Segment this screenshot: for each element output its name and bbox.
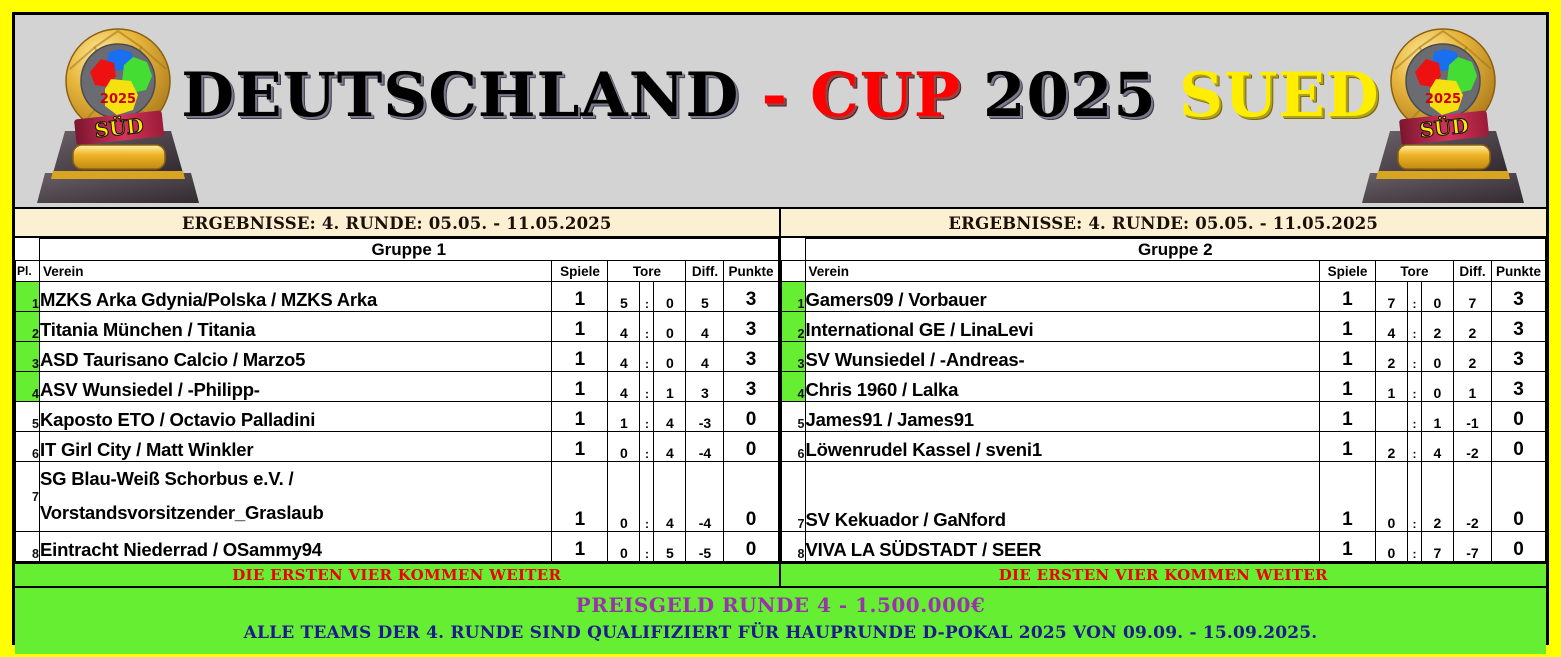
table-row[interactable]: 2 Titania München / Titania 1 4 : 0 4 3 (16, 312, 779, 342)
goals-separator: : (640, 372, 654, 402)
col-header-diff-2: Diff. (1453, 261, 1491, 282)
team-cell: Gamers09 / Vorbauer (805, 282, 1319, 312)
goal-diff-cell: 2 (1453, 312, 1491, 342)
col-header-spiele-2: Spiele (1319, 261, 1375, 282)
goals-for-cell: 2 (1375, 342, 1407, 372)
rank-cell: 2 (781, 312, 805, 342)
games-cell: 1 (1319, 282, 1375, 312)
team-cell: Titania München / Titania (40, 312, 552, 342)
goal-diff-cell: -3 (686, 402, 724, 432)
results-header-group-1: ERGEBNISSE: 4. RUNDE: 05.05. - 11.05.202… (15, 209, 779, 238)
goal-diff-cell: -4 (686, 432, 724, 462)
goals-for-cell: 0 (1375, 532, 1407, 562)
goals-for-cell: 1 (1375, 372, 1407, 402)
group-title-spacer-2 (781, 239, 805, 261)
goals-for-cell: 0 (608, 462, 640, 532)
table-row[interactable]: 5 James91 / James91 1 : 1 -1 0 (781, 402, 1546, 432)
goal-diff-cell: -2 (1453, 432, 1491, 462)
goals-for-cell: 5 (608, 282, 640, 312)
title-part-cup: - CUP (762, 60, 983, 131)
team-cell: IT Girl City / Matt Winkler (40, 432, 552, 462)
points-cell: 3 (1491, 342, 1545, 372)
goals-against-cell: 4 (654, 402, 686, 432)
goals-against-cell: 2 (1421, 462, 1453, 532)
results-header-group-2: ERGEBNISSE: 4. RUNDE: 05.05. - 11.05.202… (781, 209, 1547, 238)
goals-separator: : (1407, 342, 1421, 372)
team-cell: SV Kekuador / GaNford (805, 462, 1319, 532)
table-row[interactable]: 7 SG Blau-Weiß Schorbus e.V. / Vorstands… (16, 462, 779, 532)
goals-against-cell: 0 (654, 342, 686, 372)
goals-for-cell: 1 (608, 402, 640, 432)
points-cell: 0 (724, 402, 778, 432)
rank-cell: 8 (781, 532, 805, 562)
title-part-sued: SUED (1179, 60, 1380, 131)
rank-cell: 5 (16, 402, 40, 432)
standings-table-group-1: Gruppe 1 Pl. Verein Spiele Tore Diff. Pu… (15, 238, 779, 562)
col-header-punkte-2: Punkte (1491, 261, 1545, 282)
games-cell: 1 (1319, 462, 1375, 532)
group-title-row-2: Gruppe 2 (781, 239, 1546, 261)
col-header-pl-2 (781, 261, 805, 282)
goal-diff-cell: -1 (1453, 402, 1491, 432)
points-cell: 0 (1491, 532, 1545, 562)
goals-for-cell: 0 (608, 532, 640, 562)
title-part-deutschland: DEUTSCHLAND (181, 60, 761, 131)
points-cell: 0 (1491, 402, 1545, 432)
table-row[interactable]: 3 ASD Taurisano Calcio / Marzo5 1 4 : 0 … (16, 342, 779, 372)
column-header-row-2: Verein Spiele Tore Diff. Punkte (781, 261, 1546, 282)
table-row[interactable]: 7 SV Kekuador / GaNford 1 0 : 2 -2 0 (781, 462, 1546, 532)
rank-cell: 8 (16, 532, 40, 562)
points-cell: 0 (724, 432, 778, 462)
team-cell: ASD Taurisano Calcio / Marzo5 (40, 342, 552, 372)
table-row[interactable]: 5 Kaposto ETO / Octavio Palladini 1 1 : … (16, 402, 779, 432)
rank-cell: 3 (781, 342, 805, 372)
col-header-pl-1: Pl. (16, 261, 40, 282)
points-cell: 0 (1491, 432, 1545, 462)
advance-note-group-1: DIE ERSTEN VIER KOMMEN WEITER (15, 564, 781, 586)
rank-cell: 6 (16, 432, 40, 462)
goals-against-cell: 4 (654, 462, 686, 532)
goals-separator: : (1407, 402, 1421, 432)
goals-for-cell: 0 (1375, 462, 1407, 532)
games-cell: 1 (552, 402, 608, 432)
col-header-tore-1: Tore (608, 261, 686, 282)
goal-diff-cell: 3 (686, 372, 724, 402)
rank-cell: 7 (781, 462, 805, 532)
qualification-text: ALLE TEAMS DER 4. RUNDE SIND QUALIFIZIER… (15, 619, 1546, 647)
goals-separator: : (1407, 282, 1421, 312)
rank-cell: 7 (16, 462, 40, 532)
goal-diff-cell: -2 (1453, 462, 1491, 532)
goals-for-cell (1375, 402, 1407, 432)
tournament-standings-page: 2025 SÜD (0, 0, 1561, 657)
goals-against-cell: 0 (1421, 372, 1453, 402)
games-cell: 1 (1319, 372, 1375, 402)
points-cell: 0 (724, 462, 778, 532)
advance-note-group-2: DIE ERSTEN VIER KOMMEN WEITER (781, 564, 1547, 586)
goals-for-cell: 4 (608, 342, 640, 372)
goals-separator: : (1407, 372, 1421, 402)
goals-separator: : (640, 432, 654, 462)
rank-cell: 5 (781, 402, 805, 432)
team-cell: International GE / LinaLevi (805, 312, 1319, 342)
points-cell: 0 (1491, 462, 1545, 532)
team-cell: James91 / James91 (805, 402, 1319, 432)
col-header-verein-2: Verein (805, 261, 1319, 282)
goals-against-cell: 0 (654, 282, 686, 312)
groups-container: ERGEBNISSE: 4. RUNDE: 05.05. - 11.05.202… (15, 209, 1546, 562)
main-frame: 2025 SÜD (12, 12, 1549, 645)
table-row[interactable]: 8 VIVA LA SÜDSTADT / SEER 1 0 : 7 -7 0 (781, 532, 1546, 562)
prize-box: PREISGELD RUNDE 4 - 1.500.000€ ALLE TEAM… (15, 588, 1546, 654)
rank-cell: 3 (16, 342, 40, 372)
group-2: ERGEBNISSE: 4. RUNDE: 05.05. - 11.05.202… (781, 209, 1547, 562)
games-cell: 1 (552, 432, 608, 462)
games-cell: 1 (552, 372, 608, 402)
team-cell: Eintracht Niederrad / OSammy94 (40, 532, 552, 562)
games-cell: 1 (1319, 532, 1375, 562)
table-row[interactable]: 4 ASV Wunsiedel / -Philipp- 1 4 : 1 3 3 (16, 372, 779, 402)
goal-diff-cell: 4 (686, 312, 724, 342)
goal-diff-cell: 4 (686, 342, 724, 372)
footer: DIE ERSTEN VIER KOMMEN WEITER DIE ERSTEN… (15, 562, 1546, 654)
team-cell: MZKS Arka Gdynia/Polska / MZKS Arka (40, 282, 552, 312)
team-cell: Kaposto ETO / Octavio Palladini (40, 402, 552, 432)
team-cell: SG Blau-Weiß Schorbus e.V. / Vorstandsvo… (40, 462, 552, 532)
table-row[interactable]: 1 Gamers09 / Vorbauer 1 7 : 0 7 3 (781, 282, 1546, 312)
goals-separator: : (640, 462, 654, 532)
rank-cell: 1 (16, 282, 40, 312)
points-cell: 3 (1491, 282, 1545, 312)
team-cell: Chris 1960 / Lalka (805, 372, 1319, 402)
goals-separator: : (640, 282, 654, 312)
group-1: ERGEBNISSE: 4. RUNDE: 05.05. - 11.05.202… (15, 209, 781, 562)
goals-against-cell: 1 (1421, 402, 1453, 432)
points-cell: 3 (724, 342, 778, 372)
group-name-2: Gruppe 2 (805, 239, 1546, 261)
team-name-line-2: Vorstandsvorsitzender_Graslaub (40, 496, 551, 530)
goals-separator: : (640, 342, 654, 372)
goal-diff-cell: -7 (1453, 532, 1491, 562)
rank-cell: 4 (781, 372, 805, 402)
goals-separator: : (1407, 312, 1421, 342)
points-cell: 3 (1491, 372, 1545, 402)
prize-money-text: PREISGELD RUNDE 4 - 1.500.000€ (15, 592, 1546, 619)
goals-separator: : (1407, 532, 1421, 562)
rank-cell: 6 (781, 432, 805, 462)
points-cell: 3 (724, 282, 778, 312)
advance-notes-row: DIE ERSTEN VIER KOMMEN WEITER DIE ERSTEN… (15, 562, 1546, 588)
group-title-spacer-1 (16, 239, 40, 261)
col-header-punkte-1: Punkte (724, 261, 778, 282)
games-cell: 1 (552, 342, 608, 372)
table-row[interactable]: 2 International GE / LinaLevi 1 4 : 2 2 … (781, 312, 1546, 342)
goals-against-cell: 4 (654, 432, 686, 462)
goal-diff-cell: 5 (686, 282, 724, 312)
points-cell: 3 (1491, 312, 1545, 342)
standings-table-group-2: Gruppe 2 Verein Spiele Tore Diff. Punkte… (781, 238, 1547, 562)
team-cell: VIVA LA SÜDSTADT / SEER (805, 532, 1319, 562)
goals-for-cell: 4 (608, 312, 640, 342)
goal-diff-cell: 2 (1453, 342, 1491, 372)
goals-against-cell: 0 (1421, 342, 1453, 372)
goals-for-cell: 0 (608, 432, 640, 462)
goals-against-cell: 2 (1421, 312, 1453, 342)
games-cell: 1 (552, 312, 608, 342)
games-cell: 1 (552, 462, 608, 532)
goals-separator: : (640, 402, 654, 432)
rank-cell: 2 (16, 312, 40, 342)
goals-for-cell: 4 (1375, 312, 1407, 342)
col-header-verein-1: Verein (40, 261, 552, 282)
goals-against-cell: 1 (654, 372, 686, 402)
table-row[interactable]: 6 Löwenrudel Kassel / sveni1 1 2 : 4 -2 … (781, 432, 1546, 462)
goals-for-cell: 2 (1375, 432, 1407, 462)
goals-against-cell: 5 (654, 532, 686, 562)
col-header-spiele-1: Spiele (552, 261, 608, 282)
page-title: DEUTSCHLAND - CUP 2025 SUED (15, 65, 1546, 126)
points-cell: 3 (724, 312, 778, 342)
games-cell: 1 (552, 532, 608, 562)
goals-against-cell: 4 (1421, 432, 1453, 462)
goals-separator: : (1407, 432, 1421, 462)
team-cell: ASV Wunsiedel / -Philipp- (40, 372, 552, 402)
goals-separator: : (640, 532, 654, 562)
goal-diff-cell: 7 (1453, 282, 1491, 312)
goal-diff-cell: -5 (686, 532, 724, 562)
goals-separator: : (640, 312, 654, 342)
team-cell: Löwenrudel Kassel / sveni1 (805, 432, 1319, 462)
goal-diff-cell: -4 (686, 462, 724, 532)
rank-cell: 4 (16, 372, 40, 402)
games-cell: 1 (1319, 432, 1375, 462)
group-name-1: Gruppe 1 (40, 239, 779, 261)
banner: 2025 SÜD (15, 15, 1546, 209)
goals-separator: : (1407, 462, 1421, 532)
games-cell: 1 (552, 282, 608, 312)
table-row[interactable]: 8 Eintracht Niederrad / OSammy94 1 0 : 5… (16, 532, 779, 562)
col-header-diff-1: Diff. (686, 261, 724, 282)
games-cell: 1 (1319, 312, 1375, 342)
goals-against-cell: 7 (1421, 532, 1453, 562)
title-part-year: 2025 (983, 60, 1179, 131)
points-cell: 0 (724, 532, 778, 562)
table-row[interactable]: 3 SV Wunsiedel / -Andreas- 1 2 : 0 2 3 (781, 342, 1546, 372)
goals-against-cell: 0 (654, 312, 686, 342)
points-cell: 3 (724, 372, 778, 402)
column-header-row-1: Pl. Verein Spiele Tore Diff. Punkte (16, 261, 779, 282)
goal-diff-cell: 1 (1453, 372, 1491, 402)
goals-for-cell: 7 (1375, 282, 1407, 312)
rank-cell: 1 (781, 282, 805, 312)
col-header-tore-2: Tore (1375, 261, 1453, 282)
team-cell: SV Wunsiedel / -Andreas- (805, 342, 1319, 372)
team-name-line-1: SG Blau-Weiß Schorbus e.V. / (40, 462, 551, 496)
games-cell: 1 (1319, 402, 1375, 432)
table-row[interactable]: 1 MZKS Arka Gdynia/Polska / MZKS Arka 1 … (16, 282, 779, 312)
table-row[interactable]: 6 IT Girl City / Matt Winkler 1 0 : 4 -4… (16, 432, 779, 462)
games-cell: 1 (1319, 342, 1375, 372)
group-title-row-1: Gruppe 1 (16, 239, 779, 261)
goals-against-cell: 0 (1421, 282, 1453, 312)
goals-for-cell: 4 (608, 372, 640, 402)
table-row[interactable]: 4 Chris 1960 / Lalka 1 1 : 0 1 3 (781, 372, 1546, 402)
